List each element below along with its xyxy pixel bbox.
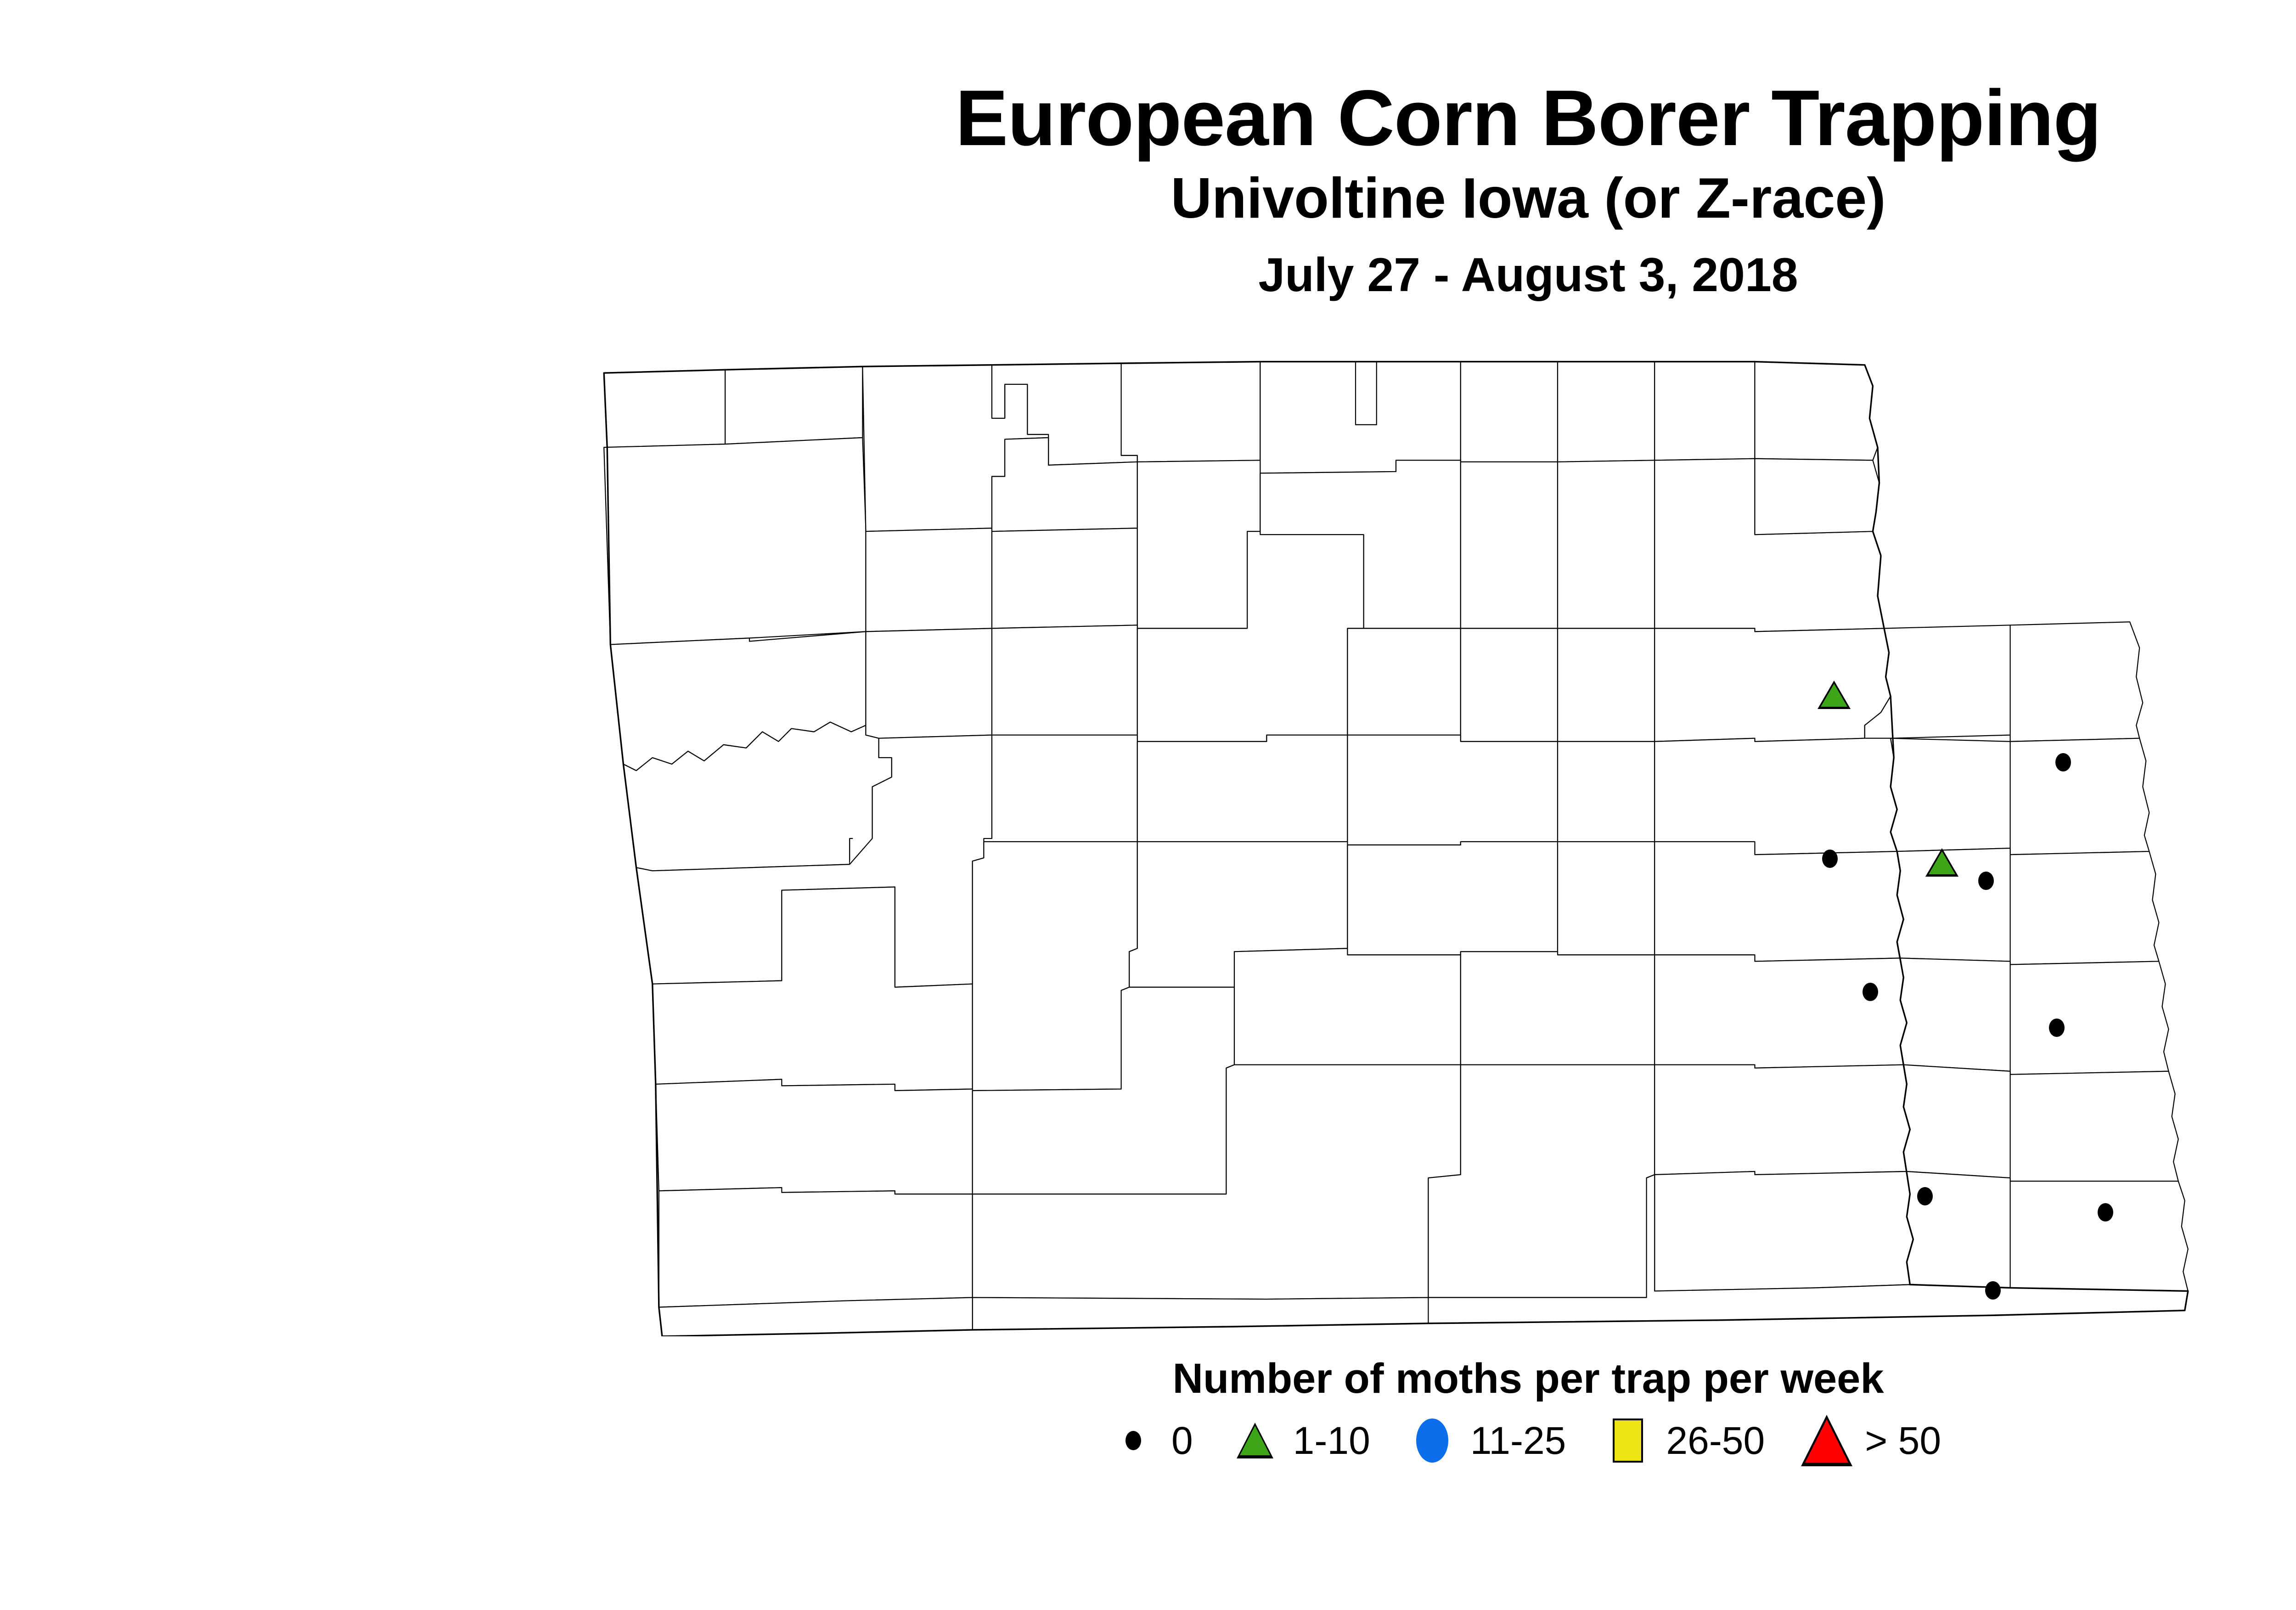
trap-marker-dot [1863,983,1878,1001]
trap-marker-dot [2098,1203,2113,1222]
trap-marker-dot [2055,753,2071,771]
legend-item-26-50: 26-50 [1610,1421,1765,1460]
page-title: European Corn Borer Trapping [0,78,2296,158]
legend-item-1-10: 1-10 [1237,1421,1370,1460]
map-svg [588,354,2204,1336]
blue-circle-icon [1414,1423,1450,1458]
trap-marker-triangle [1925,848,1958,877]
legend-label-zero: 0 [1171,1421,1193,1460]
page-subtitle: Univoltine Iowa (or Z-race) [0,169,2296,229]
legend-label-26-50: 26-50 [1666,1421,1765,1460]
trap-marker-dot [1822,850,1838,868]
trap-marker-dot [1985,1281,2001,1300]
trap-marker-triangle [1818,681,1851,709]
legend: 0 1-10 11-25 26-50 > 50 [0,1421,2296,1460]
legend-label-over-50: > 50 [1865,1421,1941,1460]
red-triangle-icon [1809,1423,1845,1458]
trap-marker-dot [2049,1019,2065,1037]
title-block: European Corn Borer Trapping Univoltine … [0,78,2296,300]
legend-label-11-25: 11-25 [1470,1421,1566,1460]
green-triangle-icon [1237,1423,1273,1458]
legend-item-over-50: > 50 [1809,1421,1941,1460]
trap-marker-dot [1917,1187,1933,1205]
legend-title: Number of moths per trap per week [0,1355,2296,1403]
date-range: July 27 - August 3, 2018 [0,250,2296,300]
yellow-square-icon [1610,1423,1646,1458]
poster-canvas: European Corn Borer Trapping Univoltine … [0,0,2296,1610]
legend-item-11-25: 11-25 [1414,1421,1566,1460]
legend-item-zero: 0 [1115,1421,1193,1460]
black-dot-icon [1115,1423,1151,1458]
north-dakota-county-map [588,354,2204,1336]
legend-label-1-10: 1-10 [1293,1421,1370,1460]
trap-marker-dot [1978,872,1994,890]
